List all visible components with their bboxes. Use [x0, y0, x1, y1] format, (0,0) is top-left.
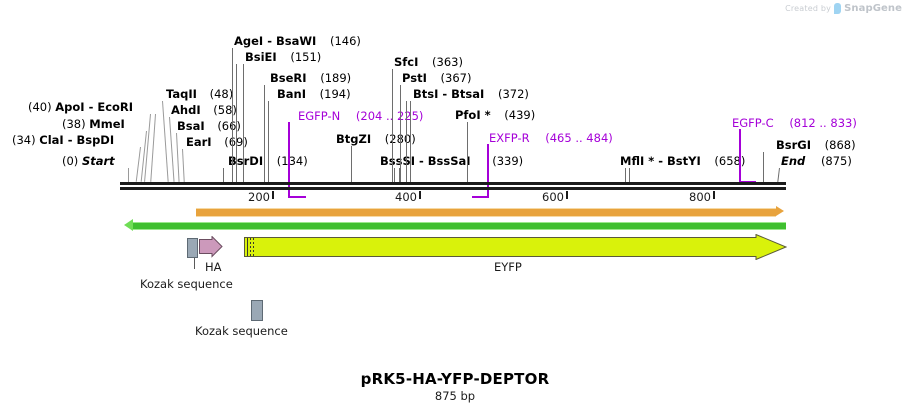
site-label-bsrgi[interactable]: BsrGI (868) — [776, 139, 856, 151]
sequence-backbone[interactable] — [120, 182, 786, 190]
feature-eyfp-arrow[interactable] — [244, 234, 787, 260]
site-label-pfoi[interactable]: PfoI * (439) — [455, 109, 535, 121]
site-label-ahdi[interactable]: AhdI (58) — [171, 104, 237, 116]
leader-line-btsi — [406, 101, 407, 182]
backbone-strand-top — [120, 182, 786, 185]
plasmid-map: Created by SnapGene (40) ApoI - EcoRI (3… — [0, 0, 910, 412]
leader-line-mflii — [625, 168, 626, 182]
feature-label-kozak-2: Kozak sequence — [195, 324, 288, 338]
leader-line-end — [777, 168, 780, 182]
leader-line-taqii — [162, 101, 169, 182]
site-label-mflii-bstyi[interactable]: MflI * - BstYI (658) — [620, 155, 745, 167]
leader-line-bsrgi — [763, 152, 764, 182]
leader-line-bani — [268, 101, 269, 182]
leader-line-psti — [400, 85, 401, 182]
ruler-label-200: 200 — [248, 190, 270, 204]
site-label-apoi-ecori[interactable]: (40) ApoI - EcoRI — [28, 101, 133, 113]
primer-stem-egfp-c — [739, 129, 741, 183]
feature-kozak-box-2[interactable] — [251, 300, 263, 321]
primer-label-exfp-r[interactable]: EXFP-R (465 .. 484) — [489, 132, 613, 144]
leader-line-agei — [232, 48, 233, 182]
snapgene-logo-icon — [834, 3, 841, 14]
site-label-end[interactable]: End (875) — [781, 155, 852, 167]
site-label-bsssi-bsssai[interactable]: BssSI - BssSaI (339) — [380, 155, 523, 167]
feature-orange-bar[interactable] — [196, 208, 776, 217]
ruler-tick-400 — [419, 191, 421, 199]
leader-line-btgzi — [351, 146, 352, 182]
ruler-tick-200 — [272, 191, 274, 199]
leader-line-btsai — [410, 101, 411, 182]
backbone-strand-bottom — [120, 187, 786, 190]
feature-green-arrowhead — [124, 219, 133, 231]
leader-line-bsai — [176, 133, 180, 182]
leader-line-eari — [182, 149, 185, 182]
feature-green-bar[interactable] — [133, 222, 786, 230]
primer-label-egfp-n[interactable]: EGFP-N (204 .. 225) — [298, 110, 423, 122]
site-label-agei-bsawi[interactable]: AgeI - BsaWI (146) — [234, 35, 361, 47]
watermark-brand-label: SnapGene — [844, 3, 902, 14]
leader-line-bsssi — [394, 168, 395, 182]
site-label-taqii[interactable]: TaqII (48) — [166, 88, 233, 100]
primer-label-egfp-c[interactable]: EGFP-C (812 .. 833) — [732, 117, 857, 129]
leader-line-bseri — [264, 85, 265, 182]
leader-line-sfci — [392, 69, 393, 182]
primer-foot-exfp-r — [472, 196, 489, 198]
ruler-label-800: 800 — [689, 190, 711, 204]
feature-kozak-box-1[interactable] — [187, 238, 198, 258]
site-label-sfci[interactable]: SfcI (363) — [394, 56, 463, 68]
site-label-mmei[interactable]: (38) MmeI — [62, 118, 125, 130]
leader-line-ecori — [150, 114, 156, 182]
site-label-bseri[interactable]: BseRI (189) — [270, 72, 351, 84]
feature-orange-arrowhead — [776, 206, 784, 216]
leader-line-ahdi — [169, 117, 175, 182]
site-label-btsi-btsai[interactable]: BtsI - BtsaI (372) — [413, 88, 529, 100]
feature-label-kozak-1: Kozak sequence — [140, 277, 233, 291]
site-label-eari[interactable]: EarI (69) — [186, 136, 248, 148]
snapgene-watermark: Created by SnapGene — [785, 3, 902, 14]
feature-label-ha: HA — [205, 260, 222, 274]
leader-line-pfoi — [467, 122, 468, 182]
feature-label-eyfp: EYFP — [494, 260, 522, 274]
leader-line-bsiei — [243, 64, 244, 182]
page-title: pRK5-HA-YFP-DEPTOR — [0, 370, 910, 388]
ruler-label-400: 400 — [395, 190, 417, 204]
feature-line-kozak-1 — [194, 258, 195, 269]
site-label-bani[interactable]: BanI (194) — [277, 88, 351, 100]
leader-line-bsawi — [236, 64, 237, 182]
site-label-start[interactable]: (0) Start — [62, 155, 115, 167]
leader-line-bstyi — [629, 168, 630, 182]
feature-ha-arrow[interactable] — [199, 236, 223, 258]
ruler-tick-800 — [713, 191, 715, 199]
leader-line-start — [128, 168, 129, 182]
page-subtitle: 875 bp — [0, 389, 910, 403]
site-label-bsiei[interactable]: BsiEI (151) — [245, 51, 321, 63]
site-label-clai-bspdi[interactable]: (34) ClaI - BspDI — [12, 134, 114, 146]
site-label-btgzi[interactable]: BtgZI (280) — [336, 133, 416, 145]
leader-line-bsrdi — [223, 168, 224, 182]
ruler-label-600: 600 — [542, 190, 564, 204]
watermark-created-label: Created by — [785, 4, 831, 13]
primer-foot-egfp-n — [288, 196, 306, 198]
ruler-tick-600 — [566, 191, 568, 199]
site-label-psti[interactable]: PstI (367) — [402, 72, 471, 84]
